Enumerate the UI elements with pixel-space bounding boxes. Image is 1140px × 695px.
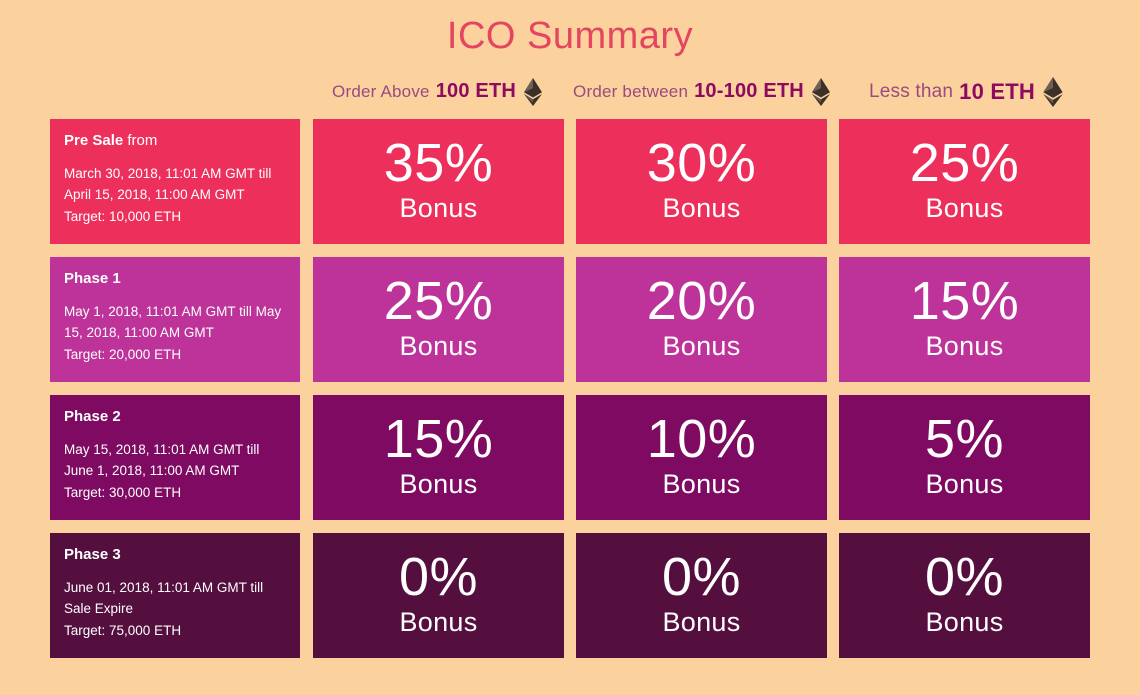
bonus-percent: 5% <box>925 412 1004 466</box>
phase-name: Phase 3 <box>64 546 121 563</box>
phase-label-cell: Phase 1 May 1, 2018, 11:01 AM GMT till M… <box>50 257 300 382</box>
phase-label-cell: Pre Sale from March 30, 2018, 11:01 AM G… <box>50 119 300 244</box>
ethereum-icon <box>1043 77 1063 107</box>
bonus-cell: 20% Bonus <box>576 257 827 382</box>
phase-title: Phase 3 <box>64 546 286 564</box>
phase-detail-line: May 1, 2018, 11:01 AM GMT till May <box>64 301 286 323</box>
bonus-cell: 5% Bonus <box>839 395 1090 520</box>
bonus-percent: 15% <box>910 274 1020 328</box>
bonus-label: Bonus <box>925 468 1003 502</box>
ico-summary-page: ICO Summary Order Above 100 ETH Order be… <box>0 0 1140 695</box>
column-header-1-prefix: Order Above <box>332 82 430 102</box>
bonus-cell: 0% Bonus <box>313 533 564 658</box>
bonus-cell: 0% Bonus <box>576 533 827 658</box>
phase-detail-line: June 1, 2018, 11:00 AM GMT <box>64 460 286 482</box>
ethereum-icon <box>524 78 542 106</box>
phase-detail-line: Target: 10,000 ETH <box>64 206 286 228</box>
bonus-label: Bonus <box>662 330 740 364</box>
bonus-label: Bonus <box>662 192 740 226</box>
phase-detail-line: March 30, 2018, 11:01 AM GMT till <box>64 163 286 185</box>
column-header-3-prefix: Less than <box>869 81 953 103</box>
bonus-cell: 25% Bonus <box>839 119 1090 244</box>
bonus-percent: 10% <box>647 412 757 466</box>
bonus-percent: 15% <box>384 412 494 466</box>
column-header-3-amount: 10 ETH <box>959 79 1035 105</box>
bonus-label: Bonus <box>662 606 740 640</box>
bonus-label: Bonus <box>925 330 1003 364</box>
bonus-percent: 35% <box>384 136 494 190</box>
phase-detail-line: 15, 2018, 11:00 AM GMT <box>64 322 286 344</box>
bonus-cell: 30% Bonus <box>576 119 827 244</box>
phase-detail-line: May 15, 2018, 11:01 AM GMT till <box>64 439 286 461</box>
bonus-percent: 25% <box>910 136 1020 190</box>
column-header-2-prefix: Order between <box>573 82 688 102</box>
bonus-cell: 10% Bonus <box>576 395 827 520</box>
phase-suffix: from <box>123 132 157 149</box>
bonus-percent: 20% <box>647 274 757 328</box>
column-header-2: Order between 10-100 ETH <box>573 78 830 106</box>
bonus-label: Bonus <box>662 468 740 502</box>
bonus-label: Bonus <box>399 330 477 364</box>
pricing-grid: Pre Sale from March 30, 2018, 11:01 AM G… <box>0 119 1140 658</box>
phase-detail-line: June 01, 2018, 11:01 AM GMT till <box>64 577 286 599</box>
bonus-label: Bonus <box>925 606 1003 640</box>
bonus-percent: 0% <box>662 550 741 604</box>
column-header-3: Less than 10 ETH <box>842 77 1090 107</box>
bonus-label: Bonus <box>399 468 477 502</box>
phase-name: Phase 1 <box>64 270 121 287</box>
phase-title: Phase 1 <box>64 270 286 288</box>
bonus-percent: 0% <box>399 550 478 604</box>
bonus-percent: 30% <box>647 136 757 190</box>
page-title: ICO Summary <box>0 0 1140 60</box>
phase-label-cell: Phase 3 June 01, 2018, 11:01 AM GMT till… <box>50 533 300 658</box>
bonus-percent: 0% <box>925 550 1004 604</box>
bonus-cell: 0% Bonus <box>839 533 1090 658</box>
phase-detail-line: Target: 20,000 ETH <box>64 344 286 366</box>
phase-label-cell: Phase 2 May 15, 2018, 11:01 AM GMT till … <box>50 395 300 520</box>
phase-title: Pre Sale from <box>64 132 286 150</box>
phase-name: Phase 2 <box>64 408 121 425</box>
table-row: Phase 2 May 15, 2018, 11:01 AM GMT till … <box>50 395 1090 520</box>
column-header-1: Order Above 100 ETH <box>313 78 561 106</box>
phase-name: Pre Sale <box>64 132 123 149</box>
bonus-cell: 15% Bonus <box>313 395 564 520</box>
phase-detail-line: April 15, 2018, 11:00 AM GMT <box>64 184 286 206</box>
bonus-cell: 25% Bonus <box>313 257 564 382</box>
phase-detail-line: Sale Expire <box>64 598 286 620</box>
column-header-row: Order Above 100 ETH Order between 10-100… <box>0 74 1140 110</box>
phase-detail-line: Target: 30,000 ETH <box>64 482 286 504</box>
bonus-percent: 25% <box>384 274 494 328</box>
phase-detail-line: Target: 75,000 ETH <box>64 620 286 642</box>
bonus-label: Bonus <box>399 192 477 226</box>
table-row: Phase 1 May 1, 2018, 11:01 AM GMT till M… <box>50 257 1090 382</box>
column-header-2-amount: 10-100 ETH <box>694 80 804 103</box>
ethereum-icon <box>812 78 830 106</box>
bonus-cell: 35% Bonus <box>313 119 564 244</box>
bonus-label: Bonus <box>925 192 1003 226</box>
table-row: Pre Sale from March 30, 2018, 11:01 AM G… <box>50 119 1090 244</box>
bonus-label: Bonus <box>399 606 477 640</box>
phase-title: Phase 2 <box>64 408 286 426</box>
bonus-cell: 15% Bonus <box>839 257 1090 382</box>
table-row: Phase 3 June 01, 2018, 11:01 AM GMT till… <box>50 533 1090 658</box>
column-header-1-amount: 100 ETH <box>436 80 516 103</box>
